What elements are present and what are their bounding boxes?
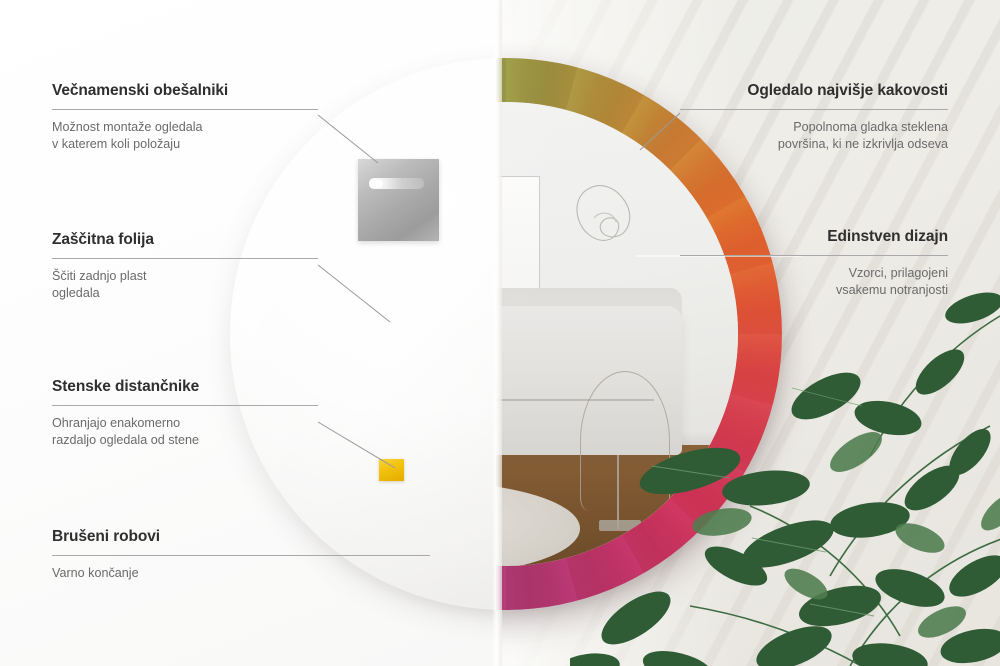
- callout-description: Popolnoma gladka steklena površina, ki n…: [680, 119, 948, 153]
- callout-title: Ogledalo najvišje kakovosti: [680, 82, 948, 100]
- callout-rule: [52, 555, 430, 556]
- infographic-canvas: Večnamenski obešalniki Možnost montaže o…: [0, 0, 1000, 666]
- callout-title: Večnamenski obešalniki: [52, 82, 318, 100]
- callout-hangers: Večnamenski obešalniki Možnost montaže o…: [52, 82, 318, 153]
- callout-title: Stenske distančnike: [52, 378, 318, 396]
- callout-description: Ohranjajo enakomerno razdaljo ogledala o…: [52, 415, 318, 449]
- callout-rule: [52, 109, 318, 110]
- callout-description: Možnost montaže ogledala v katerem koli …: [52, 119, 318, 153]
- callout-wall-spacers: Stenske distančnike Ohranjajo enakomerno…: [52, 378, 318, 449]
- callout-protective-foil: Zaščitna folija Ščiti zadnjo plast ogled…: [52, 231, 318, 302]
- callout-rule: [680, 255, 948, 256]
- callout-title: Edinstven dizajn: [680, 228, 948, 246]
- foliage-decoration-icon: [570, 276, 1000, 666]
- callout-polished-edges: Brušeni robovi Varno končanje: [52, 528, 430, 582]
- callout-description: Ščiti zadnjo plast ogledala: [52, 268, 318, 302]
- callout-description: Varno končanje: [52, 565, 430, 582]
- callout-rule: [52, 405, 318, 406]
- callout-title: Brušeni robovi: [52, 528, 430, 546]
- callout-title: Zaščitna folija: [52, 231, 318, 249]
- callout-top-quality-mirror: Ogledalo najvišje kakovosti Popolnoma gl…: [680, 82, 948, 153]
- callout-rule: [52, 258, 318, 259]
- callout-rule: [680, 109, 948, 110]
